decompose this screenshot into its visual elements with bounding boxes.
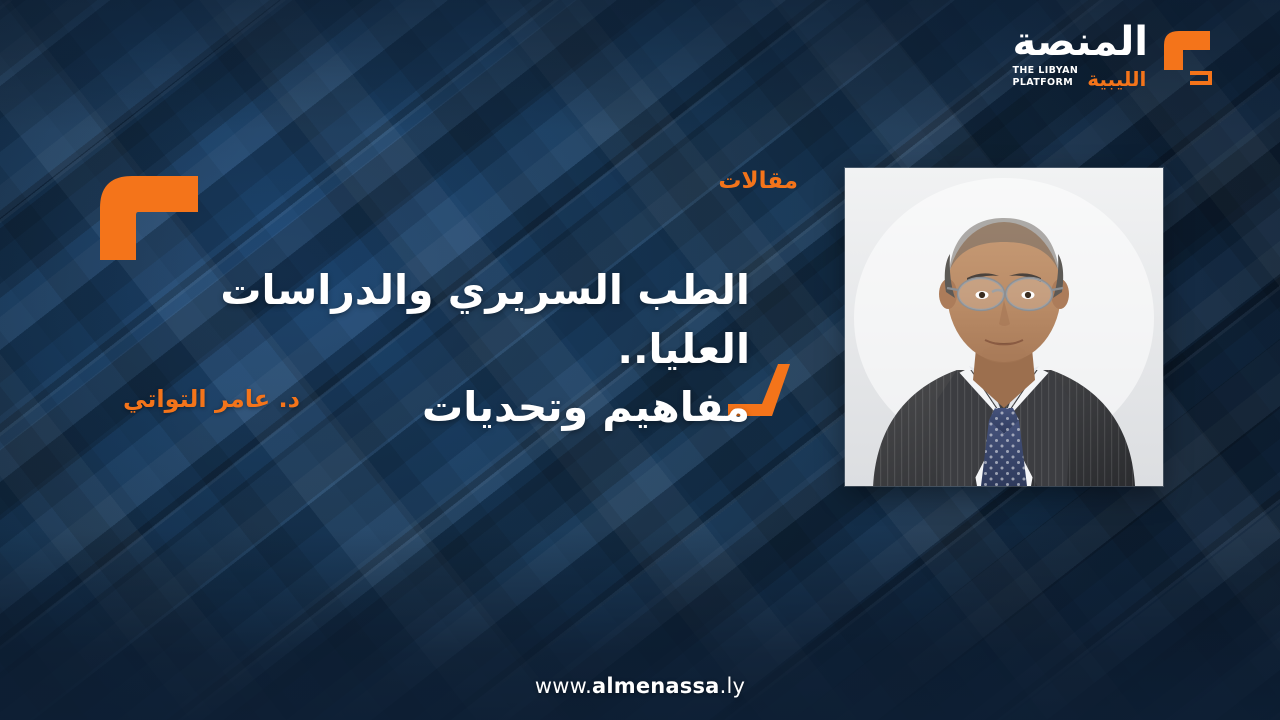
url-suffix: .ly (720, 674, 746, 698)
footer-website-url[interactable]: www.almenassa.ly (0, 674, 1280, 698)
brand-wordmark: المنصة الليبية THE LIBYAN PLATFORM (1012, 22, 1148, 89)
corner-bracket-top-left-icon (96, 172, 200, 262)
brand-english-line1: THE LIBYAN (1012, 65, 1078, 77)
brand-name-english: THE LIBYAN PLATFORM (1012, 65, 1078, 89)
url-prefix: www. (535, 674, 592, 698)
url-brand: almenassa (592, 674, 720, 698)
brand-subtitle-row: الليبية THE LIBYAN PLATFORM (1012, 65, 1146, 89)
author-portrait (845, 168, 1163, 486)
brand-english-line2: PLATFORM (1012, 77, 1073, 89)
brand-subtitle-arabic: الليبية (1087, 69, 1146, 89)
brand-logo[interactable]: المنصة الليبية THE LIBYAN PLATFORM (1012, 22, 1218, 89)
author-name[interactable]: د. عامر التواتي (123, 385, 300, 413)
headline-line-1: الطب السريري والدراسات العليا.. (180, 261, 750, 377)
brand-mark-icon (1156, 23, 1218, 89)
article-card: المنصة الليبية THE LIBYAN PLATFORM مقالا… (0, 0, 1280, 720)
category-label[interactable]: مقالات (718, 168, 798, 194)
brand-name-arabic: المنصة (1012, 22, 1148, 62)
